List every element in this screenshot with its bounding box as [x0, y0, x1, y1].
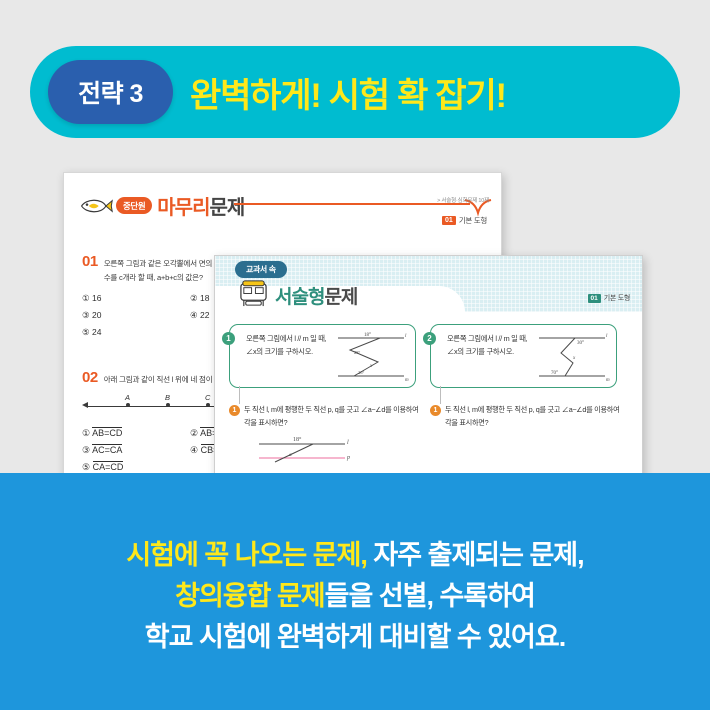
- essay-problem-1: 1 오른쪽 그림에서 l // m 일 때, ∠x의 크기를 구하시오. 18°…: [229, 324, 416, 388]
- bottom-copy-segment: 창의융합 문제: [175, 581, 325, 611]
- header-rule: [234, 203, 470, 205]
- left-chapter-number: 01: [442, 216, 456, 225]
- sub-problem-angle-diagram: 18° a l p: [253, 434, 373, 468]
- sub-problem-badge: 1: [229, 405, 240, 416]
- left-sheet-tag: 중단원: [116, 197, 152, 214]
- svg-text:18°: 18°: [293, 436, 302, 443]
- sub-problem-1: 1 두 직선 l, m에 평행한 두 직선 p, q를 긋고 ∠a−∠d를 이용…: [229, 404, 421, 429]
- problem-badge: 1: [222, 332, 235, 345]
- svg-text:l: l: [347, 440, 349, 446]
- bottom-copy-segment: 시험에 꼭 나오는 문제,: [126, 540, 367, 570]
- number-line-point: [126, 403, 130, 407]
- choice-item: ① 16: [82, 293, 190, 304]
- svg-text:26°: 26°: [358, 370, 365, 375]
- choice-item: ③ AC=CA: [82, 445, 190, 456]
- bottom-copy-line: 시험에 꼭 나오는 문제, 자주 출제되는 문제,: [0, 535, 710, 576]
- choice-item: ⑤ CA=CD: [82, 462, 190, 473]
- svg-text:l: l: [606, 334, 608, 339]
- left-corner-chapter: 01 기본 도형: [442, 215, 487, 226]
- parallel-lines-zigzag-diagram: 30° x 70° l m: [535, 329, 611, 383]
- right-corner-chapter: 01 기본 도형: [588, 293, 630, 303]
- svg-text:m: m: [405, 378, 409, 383]
- svg-text:a: a: [289, 452, 292, 458]
- problem-2-text: 오른쪽 그림에서 l // m 일 때, ∠x의 크기를 구하시오.: [447, 332, 539, 358]
- choice-item: ⑤ 24: [82, 327, 190, 338]
- svg-text:70°: 70°: [551, 371, 558, 376]
- sub-problem-2-text: 두 직선 l, m에 평행한 두 직선 p, q를 긋고 ∠a−∠d를 이용하여…: [445, 404, 622, 429]
- fish-mascot-icon: [78, 195, 114, 217]
- right-chapter-number: 01: [588, 294, 601, 303]
- arrow-left-icon: [82, 402, 88, 408]
- problem-1-text: 오른쪽 그림에서 l // m 일 때, ∠x의 크기를 구하시오.: [246, 332, 338, 358]
- problem-connector-line: [239, 386, 240, 404]
- parallel-lines-zigzag-diagram: 18° 28° x 26° l m: [334, 329, 410, 383]
- point-label: A: [125, 393, 130, 402]
- school-bus-icon: [237, 278, 270, 308]
- choice-item: ③ 20: [82, 310, 190, 321]
- sub-problem-2: 1 두 직선 l, m에 평행한 두 직선 p, q를 긋고 ∠a−∠d를 이용…: [430, 404, 622, 429]
- choice-item: ① AB=CD: [82, 428, 190, 439]
- svg-text:p: p: [346, 455, 350, 461]
- point-label: B: [165, 393, 170, 402]
- essay-problem-2: 2 오른쪽 그림에서 l // m 일 때, ∠x의 크기를 구하시오. 30°…: [430, 324, 617, 388]
- banner-title: 완벽하게! 시험 확 잡기!: [190, 46, 506, 138]
- bottom-copy-segment: 학교 시험에 완벽하게 대비할 수 있어요.: [145, 622, 565, 652]
- number-line-point: [206, 403, 210, 407]
- header-banner: 전략 3 완벽하게! 시험 확 잡기!: [30, 46, 680, 138]
- bottom-description-block: 시험에 꼭 나오는 문제, 자주 출제되는 문제,창의융합 문제들을 선별, 수…: [0, 473, 710, 710]
- bottom-copy-segment: 들을 선별, 수록하여: [325, 581, 535, 611]
- question-01-number: 01: [82, 253, 98, 270]
- left-corner-subtitle: > 서술형·심화문제 10제: [437, 196, 489, 204]
- problem-connector-line: [440, 386, 441, 404]
- left-sheet-header: 중단원 마무리문제: [78, 191, 244, 220]
- right-sheet-title: 서술형문제: [275, 282, 357, 309]
- sub-problem-badge: 1: [430, 405, 441, 416]
- left-sheet-title: 마무리문제: [157, 191, 244, 220]
- svg-text:28°: 28°: [354, 350, 361, 355]
- number-line-point: [166, 403, 170, 407]
- sub-problem-1-text: 두 직선 l, m에 평행한 두 직선 p, q를 긋고 ∠a−∠d를 이용하여…: [244, 404, 421, 429]
- left-chapter-name: 기본 도형: [459, 215, 487, 226]
- svg-text:x: x: [572, 356, 576, 361]
- strategy-badge: 전략 3: [48, 60, 173, 124]
- svg-text:30°: 30°: [577, 341, 584, 346]
- worksheet-page-right: 교과서 속 서술형문제 01 기본 도형 1 오른쪽 그림에서 l // m 일…: [214, 255, 643, 485]
- svg-text:m: m: [606, 378, 610, 383]
- question-02-number: 02: [82, 369, 98, 386]
- right-chapter-name: 기본 도형: [604, 293, 630, 303]
- bottom-copy-text: 시험에 꼭 나오는 문제, 자주 출제되는 문제,창의융합 문제들을 선별, 수…: [0, 535, 710, 658]
- bottom-copy-segment: 자주 출제되는 문제,: [367, 540, 584, 570]
- bottom-copy-line: 창의융합 문제들을 선별, 수록하여: [0, 576, 710, 617]
- svg-text:l: l: [405, 334, 407, 339]
- promo-page: 전략 3 완벽하게! 시험 확 잡기! 중단원 마무리문제 > 서술형·심화문제…: [0, 0, 710, 710]
- strategy-badge-label: 전략 3: [78, 74, 143, 110]
- problem-badge: 2: [423, 332, 436, 345]
- right-sheet-tag: 교과서 속: [235, 261, 287, 278]
- bottom-copy-line: 학교 시험에 완벽하게 대비할 수 있어요.: [0, 617, 710, 658]
- point-label: C: [205, 393, 210, 402]
- svg-text:18°: 18°: [364, 333, 371, 338]
